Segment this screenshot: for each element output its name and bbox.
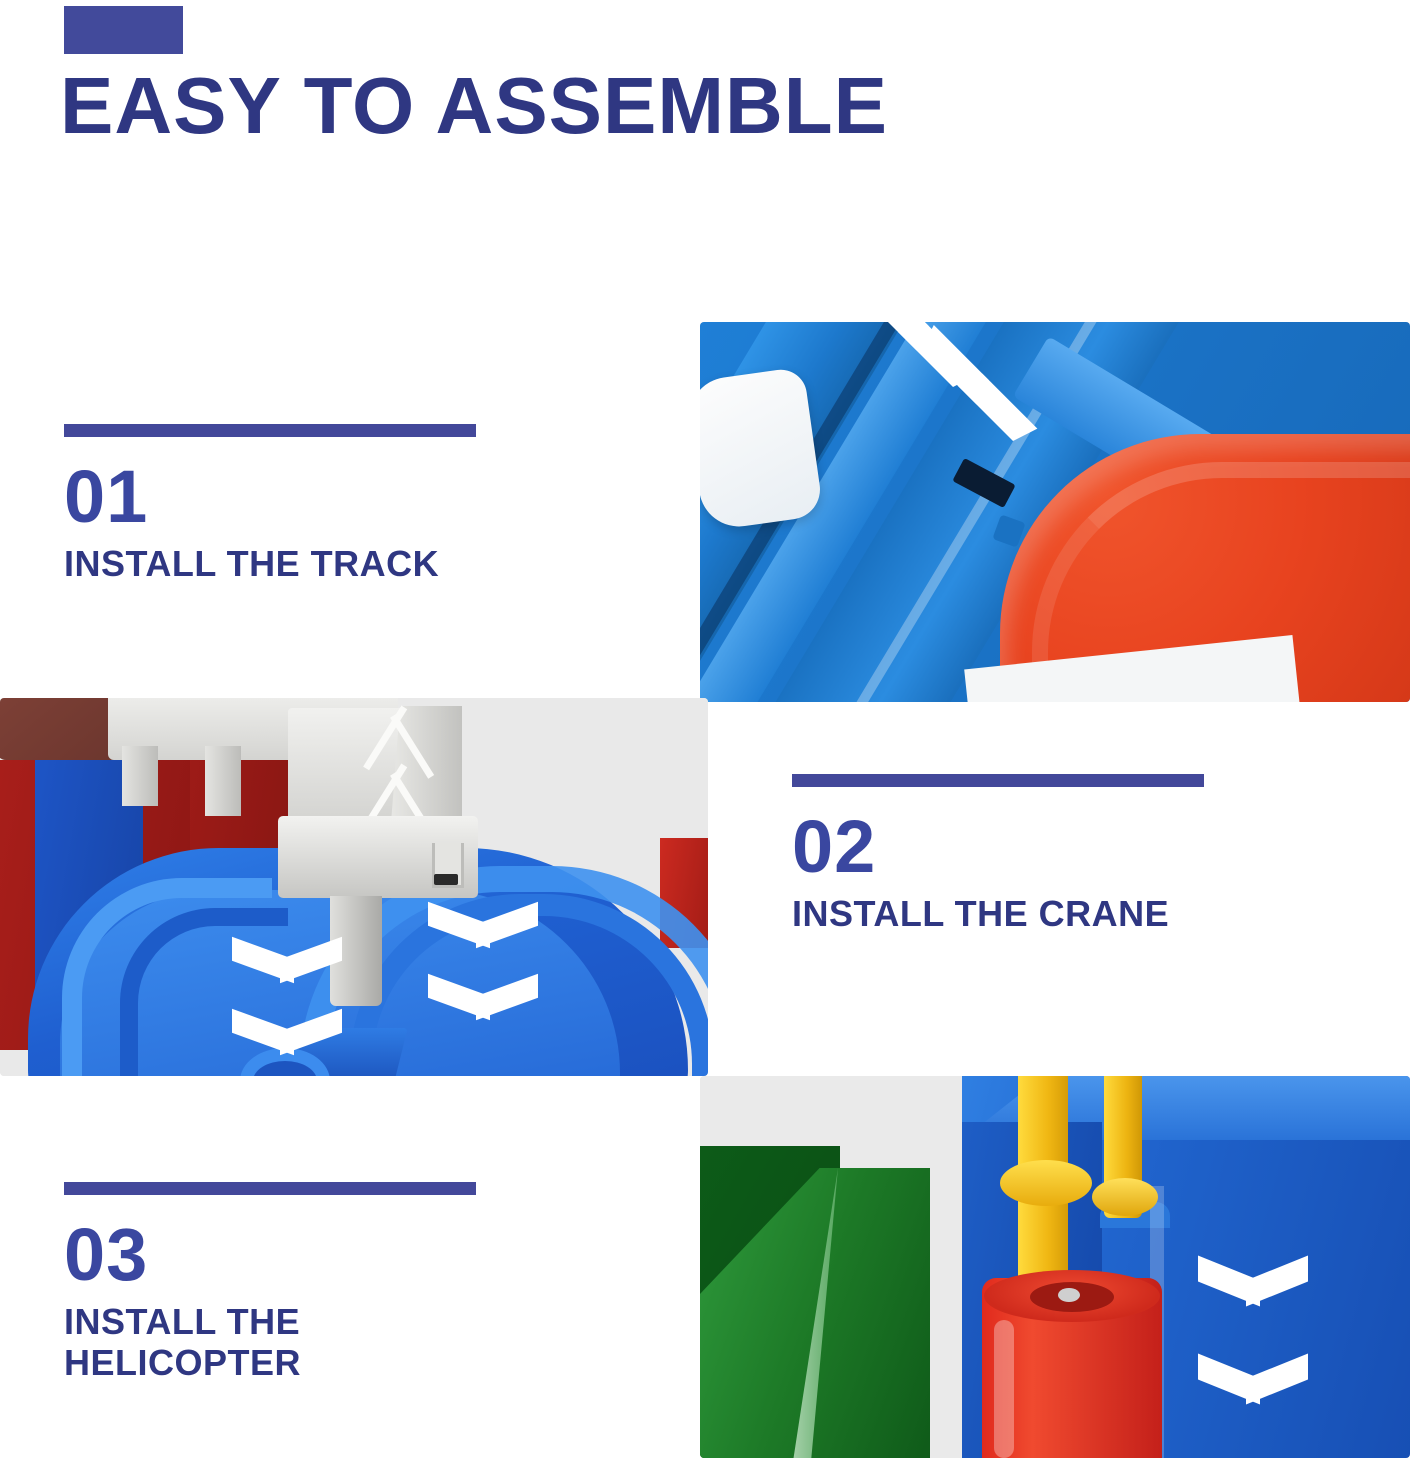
yellow-rotor-collar-back <box>1092 1178 1158 1216</box>
yellow-rotor-collar-front <box>1000 1160 1092 1206</box>
step-2-block: 02 INSTALL THE CRANE <box>792 774 1204 934</box>
crane-peg-left <box>122 746 158 806</box>
step-1-label: INSTALL THE TRACK <box>64 543 476 584</box>
assembly-instructions-page: EASY TO ASSEMBLE <box>0 0 1410 1458</box>
step-2-photo-panel <box>0 698 708 1076</box>
step-2-divider <box>792 774 1204 787</box>
step-1-block: 01 INSTALL THE TRACK <box>64 424 476 584</box>
crane-lattice-bracing <box>396 714 456 832</box>
step-2-label: INSTALL THE CRANE <box>792 893 1204 934</box>
accent-square-decoration <box>64 6 183 54</box>
page-title: EASY TO ASSEMBLE <box>60 66 888 146</box>
metal-screw <box>1058 1288 1080 1302</box>
step-2-photo <box>0 698 708 1076</box>
step-1-photo <box>700 322 1410 702</box>
step-3-number: 03 <box>64 1221 476 1289</box>
white-toy-car <box>700 366 824 531</box>
step-3-label-line-2: HELICOPTER <box>64 1342 476 1383</box>
crane-peg-right <box>205 746 241 816</box>
step-3-block: 03 INSTALL THE HELICOPTER <box>64 1182 476 1384</box>
step-3-divider <box>64 1182 476 1195</box>
step-1-number: 01 <box>64 463 476 531</box>
step-2-label-line-1: INSTALL THE CRANE <box>792 893 1169 934</box>
step-1-photo-panel <box>700 322 1410 702</box>
step-3-label: INSTALL THE HELICOPTER <box>64 1301 476 1384</box>
step-2-number: 02 <box>792 813 1204 881</box>
step-3-photo-panel <box>700 1076 1410 1458</box>
step-1-label-line-1: INSTALL THE TRACK <box>64 543 439 584</box>
step-3-photo <box>700 1076 1410 1458</box>
step-3-label-line-1: INSTALL THE <box>64 1301 300 1342</box>
red-cylinder-highlight <box>994 1320 1014 1458</box>
crane-slot-opening <box>434 874 458 885</box>
step-1-divider <box>64 424 476 437</box>
